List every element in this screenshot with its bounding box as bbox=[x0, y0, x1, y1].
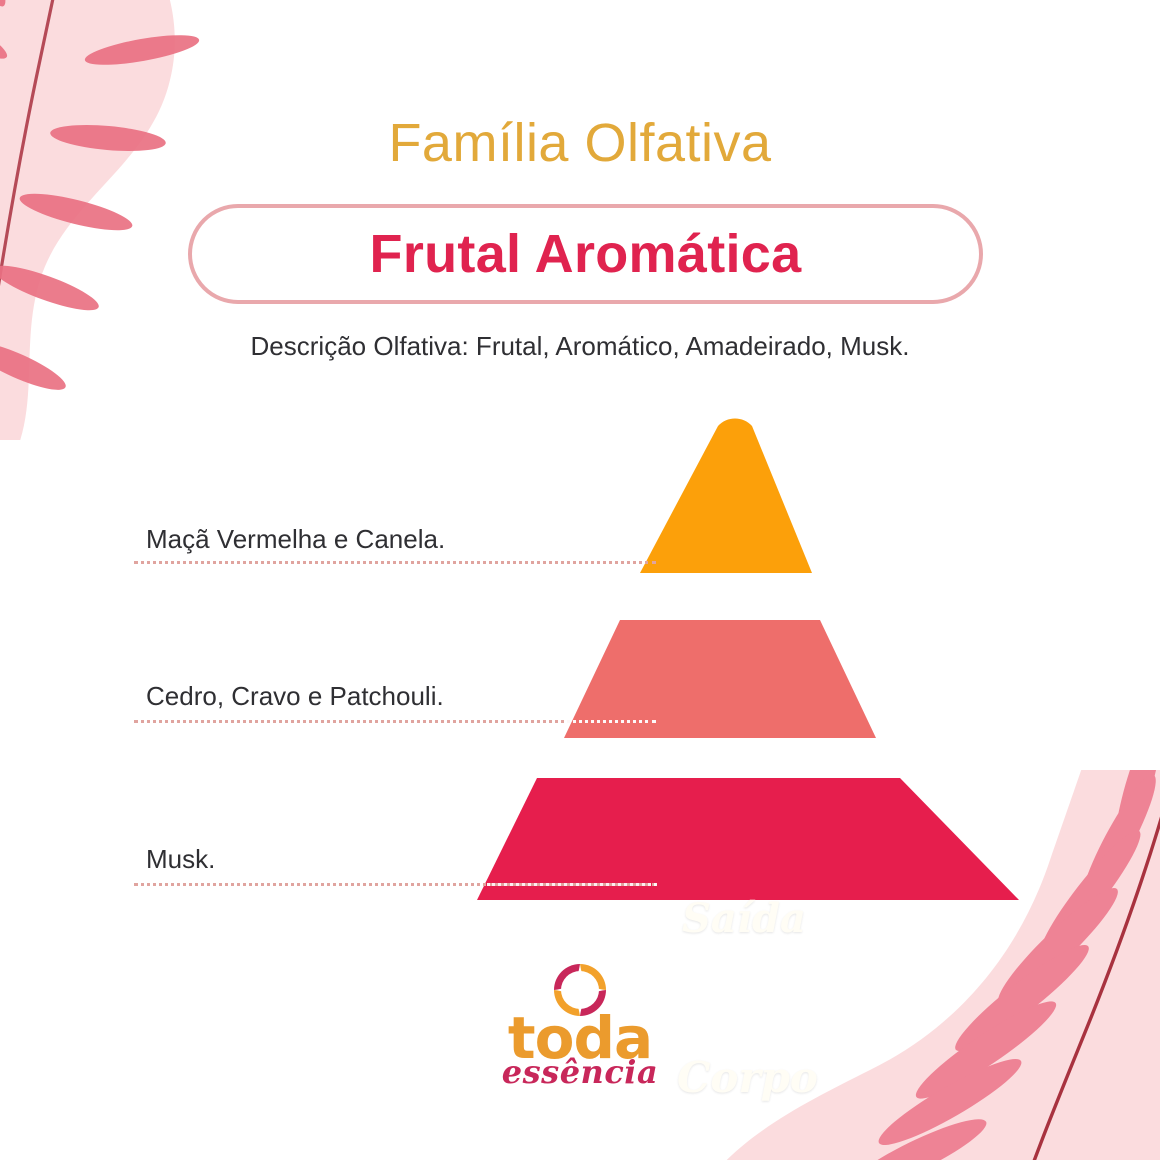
note-middle-label: Cedro, Cravo e Patchouli. bbox=[146, 681, 444, 712]
leader-line-middle-overlay bbox=[566, 720, 656, 723]
olfactory-description: Descrição Olfativa: Frutal, Aromático, A… bbox=[0, 331, 1160, 362]
pyramid-shapes bbox=[0, 410, 1160, 910]
logo-subword: essência bbox=[0, 1053, 1160, 1091]
family-name-pill: Frutal Aromática bbox=[188, 204, 983, 304]
pyramid-layer-top bbox=[640, 419, 812, 574]
note-base-label: Musk. bbox=[146, 844, 215, 875]
infographic-canvas: Família Olfativa Frutal Aromática Descri… bbox=[0, 0, 1160, 1160]
brand-logo: toda essência bbox=[0, 962, 1160, 1082]
page-kicker: Família Olfativa bbox=[0, 112, 1160, 174]
leader-line-top bbox=[134, 561, 656, 564]
leader-line-base-overlay bbox=[487, 883, 657, 886]
fragrance-pyramid: Saída Corpo Fundo bbox=[0, 410, 1160, 910]
pyramid-label-top: Saída bbox=[682, 895, 806, 942]
pyramid-layer-base bbox=[477, 778, 1019, 900]
note-top-label: Maçã Vermelha e Canela. bbox=[146, 524, 445, 555]
family-name: Frutal Aromática bbox=[192, 223, 979, 285]
